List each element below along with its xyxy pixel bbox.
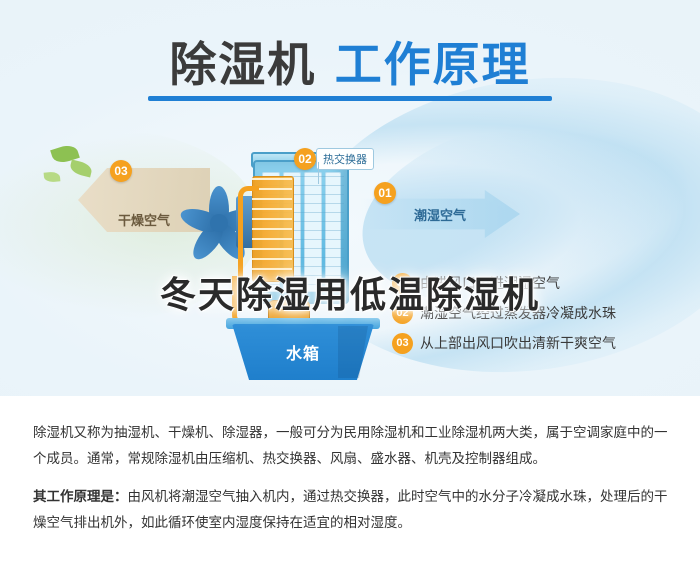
legend-item: 03 从上部出风口吹出清新干爽空气 — [392, 328, 692, 358]
badge-02-illustration: 02 — [294, 148, 316, 170]
humid-air-label: 潮湿空气 — [380, 205, 500, 224]
title-underline — [148, 96, 552, 101]
page-title: 除湿机 工作原理 — [0, 26, 700, 95]
paragraph-1: 除湿机又称为抽湿机、干燥机、除湿器，一般可分为民用除湿机和工业除湿机两大类，属于… — [33, 420, 669, 472]
badge-01-illustration: 01 — [374, 182, 396, 204]
title-part-black: 除湿机 — [169, 38, 316, 93]
hero-illustration: 除湿机 工作原理 干燥空气 03 — [0, 0, 700, 396]
overlay-heading: 冬天除湿用低温除湿机 — [0, 266, 700, 318]
heat-exchanger-callout: 热交换器 — [316, 148, 374, 170]
water-tank-label: 水箱 — [232, 340, 374, 364]
article-body: 除湿机又称为抽湿机、干燥机、除湿器，一般可分为民用除湿机和工业除湿机两大类，属于… — [0, 396, 700, 566]
page-root: 除湿机 工作原理 干燥空气 03 — [0, 0, 700, 566]
legend-number: 03 — [392, 333, 413, 354]
legend-label: 从上部出风口吹出清新干爽空气 — [420, 333, 616, 353]
paragraph-2: 其工作原理是：由风机将潮湿空气抽入机内，通过热交换器，此时空气中的水分子冷凝成水… — [33, 484, 669, 536]
title-part-blue: 工作原理 — [335, 38, 531, 93]
heat-exchanger-leader-line — [318, 162, 319, 184]
paragraph-2-text: 由风机将潮湿空气抽入机内，通过热交换器，此时空气中的水分子冷凝成水珠，处理后的干… — [33, 489, 668, 530]
badge-03-illustration: 03 — [110, 160, 132, 182]
paragraph-2-lead: 其工作原理是： — [33, 489, 128, 504]
